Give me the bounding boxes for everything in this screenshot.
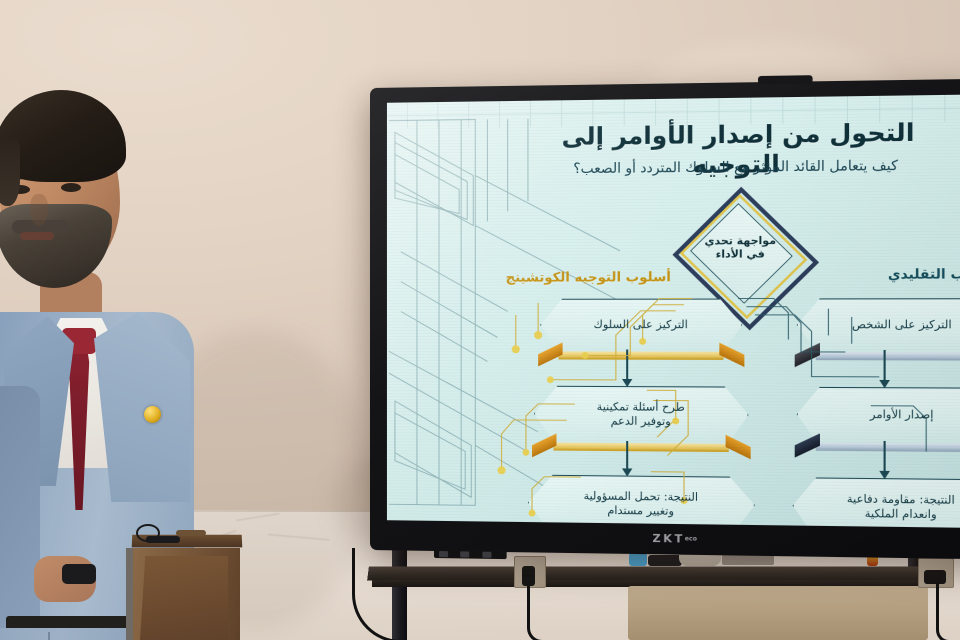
presenter-arm [0,386,40,636]
nose [30,194,48,226]
eye-right [61,183,81,192]
display-camera [758,75,813,84]
chip-label-line2: في الأداء [670,248,812,262]
interactive-display[interactable]: التحول من إصدار الأوامر إلى التوجيه كيف … [370,79,960,560]
node-label: التركيز على الشخص [852,318,952,332]
node-label-line1: طرح أسئلة تمكينية [597,401,685,415]
podium-pointer [176,530,206,536]
hair-sideburn [0,138,20,206]
node-label-line2: وتغيير مستدام [584,504,699,519]
node-cap-left [790,526,815,528]
brand-text: ZKT [652,532,684,546]
node-cap-left [526,523,550,528]
mouth [20,232,54,240]
display-port-panel[interactable] [434,549,507,559]
node-label: النتيجة: تحمل المسؤولية وتغيير مستدام [584,490,699,519]
trouser-crease [48,632,50,640]
chip-label: مواجهة تحدي في الأداء [670,235,812,263]
presentation-clicker [62,564,96,584]
display-port [482,552,491,558]
node-cap-right [732,525,757,528]
node-label-line2: وانعدام الملكية [847,507,955,522]
podium-rail [126,548,133,640]
power-cable-left [527,584,542,640]
node-label-line1: النتيجة: مقاومة دفاعية [847,493,955,508]
plug-left [522,566,535,586]
node-label-line1: إصدار الأوامر [870,408,934,422]
lapel-pin [144,406,161,423]
display-port [439,551,448,557]
node-label-line1: التركيز على الشخص [852,318,952,332]
stand-shelf [367,567,929,581]
power-cable-right [936,582,949,640]
chip-label-line1: مواجهة تحدي [670,235,812,249]
circuit-trace-graphic [387,94,960,527]
stand-lower-shelf [628,586,928,640]
node-label: طرح أسئلة تمكينية وتوفير الدعم [597,401,685,429]
shelf-item-remote [648,555,682,566]
display-screen[interactable]: التحول من إصدار الأوامر إلى التوجيه كيف … [387,94,960,527]
display-brand-logo: ZKTeco [370,528,960,550]
node-label: النتيجة: مقاومة دفاعية وانعدام الملكية [847,493,955,522]
node-label-line2: وتوفير الدعم [597,414,685,428]
podium-front-panel [140,556,228,640]
node-label: التركيز على السلوك [594,318,688,332]
room-scene: التحول من إصدار الأوامر إلى التوجيه كيف … [0,0,960,640]
cable-coil [136,524,160,542]
brand-sup: eco [685,535,697,542]
node-label-line1: التركيز على السلوك [594,318,688,332]
shelf-item-blue-box [629,553,647,566]
node-label: إصدار الأوامر [870,408,934,422]
display-port [460,551,469,557]
node-label-line1: النتيجة: تحمل المسؤولية [584,490,699,505]
